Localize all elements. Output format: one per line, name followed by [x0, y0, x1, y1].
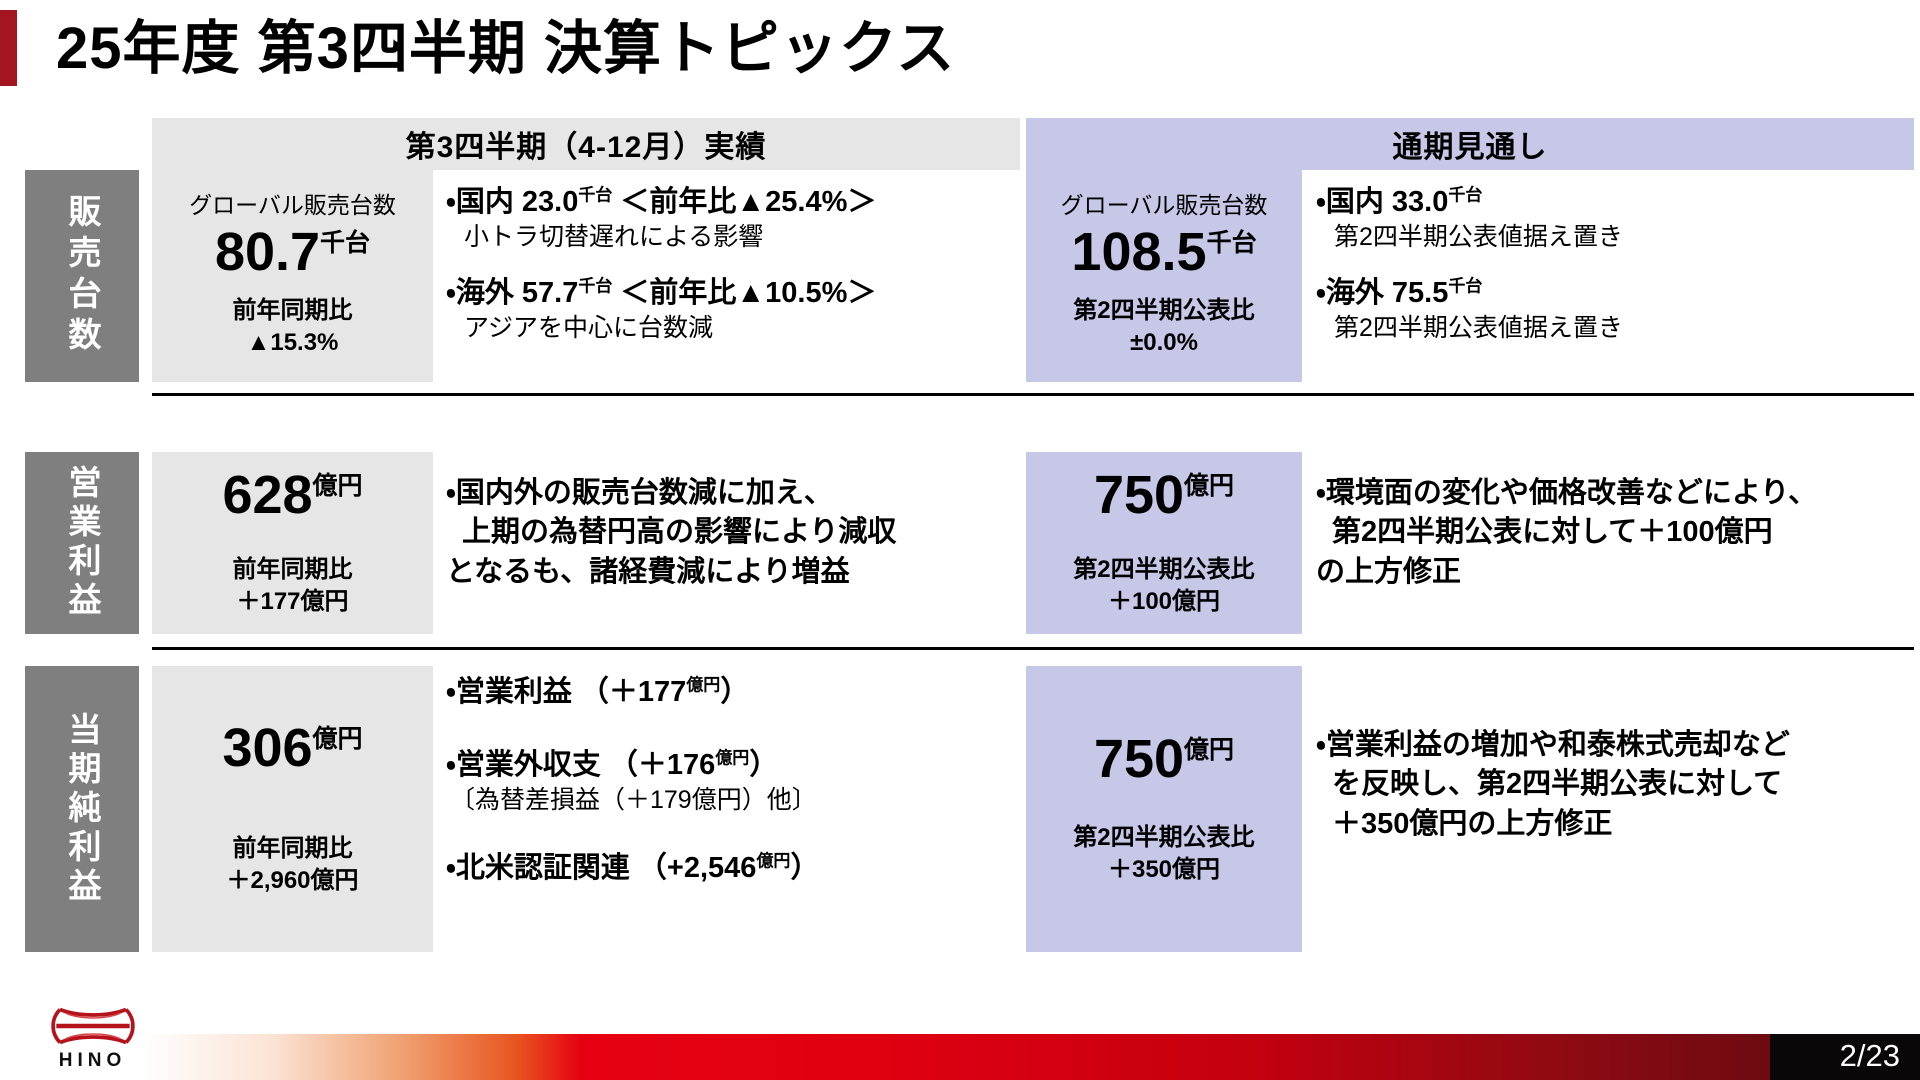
- list-item: ・営業外収支 （＋176億円） 〔為替差損益（＋179億円）他〕: [446, 747, 1016, 816]
- bullet-note: 第2四半期公表値据え置き: [1334, 312, 1916, 344]
- table-row: 販売台数 グローバル販売台数 80.7千台 前年同期比 ▲15.3% ・国内 2…: [0, 170, 1920, 438]
- paragraph-forecast-net: ・営業利益の増加や和泰株式売却など を反映し、第2四半期公表に対して ＋350億…: [1316, 726, 1916, 844]
- bullets-actual-net: ・営業利益 （＋177億円） ・営業外収支 （＋176億円） 〔為替差損益（＋1…: [446, 674, 1016, 887]
- value-main: 750億円: [1094, 467, 1234, 524]
- bullets-actual-sales: ・国内 23.0千台 ＜前年比▲25.4%＞ 小トラ切替遅れによる影響 ・海外 …: [446, 184, 1016, 344]
- column-header-forecast: 通期見通し: [1026, 118, 1914, 170]
- paragraph-line: ・環境面の変化や価格改善などにより、: [1316, 474, 1916, 513]
- bullet-main-text: ・営業外収支 （＋176: [446, 749, 715, 781]
- page-number-band: 2/23: [1770, 1034, 1920, 1080]
- bullet-main-tail: ）: [749, 749, 778, 781]
- page-title: 25年度 第3四半期 決算トピックス: [56, 14, 955, 84]
- paragraph-line: ・国内外の販売台数減に加え、: [446, 474, 1016, 513]
- bullet-main-text: ・海外 57.7: [446, 277, 578, 309]
- list-item: ・国内 33.0千台 第2四半期公表値据え置き: [1316, 184, 1916, 253]
- paragraph-line: 上期の為替円高の影響により減収: [446, 513, 1016, 552]
- row-divider: [152, 647, 1914, 650]
- value-unit: 億円: [313, 472, 363, 500]
- bullet-main-sup: 千台: [578, 185, 612, 204]
- value-number: 750: [1094, 465, 1184, 525]
- title-accent-bar: [0, 10, 17, 86]
- paragraph-line: 第2四半期公表に対して＋100億円: [1316, 513, 1916, 552]
- bullet-main-tail: ＜前年比▲10.5%＞: [612, 277, 876, 309]
- value-compare-label: 前年同期比: [233, 554, 353, 586]
- paragraph-line: となるも、諸経費減により増益: [446, 553, 1016, 592]
- value-cell-forecast-net: 750億円 第2四半期公表比 ＋350億円: [1026, 666, 1302, 952]
- value-unit: 千台: [1207, 229, 1257, 257]
- value-compare-label: 前年同期比: [233, 833, 353, 865]
- value-compare-value: ±0.0%: [1130, 327, 1198, 359]
- list-item: ・海外 57.7千台 ＜前年比▲10.5%＞ アジアを中心に台数減: [446, 275, 1016, 344]
- value-number: 80.7: [215, 222, 320, 282]
- bullets-forecast-sales: ・国内 33.0千台 第2四半期公表値据え置き ・海外 75.5千台 第2四半期…: [1316, 184, 1916, 344]
- list-item: ・北米認証関連 （+2,546億円）: [446, 850, 1016, 887]
- list-item: ・営業利益 （＋177億円）: [446, 674, 1016, 711]
- bullet-main-text: ・北米認証関連 （+2,546: [446, 852, 756, 884]
- value-cell-actual-operating: 628億円 前年同期比 ＋177億円: [152, 452, 433, 634]
- footer: HINO 2/23: [0, 1002, 1920, 1080]
- bullet-main-tail: ＜前年比▲25.4%＞: [612, 186, 876, 218]
- value-number: 750: [1094, 729, 1184, 789]
- hino-logo-text: HINO: [59, 1050, 127, 1072]
- value-number: 628: [222, 465, 312, 525]
- hino-emblem-icon: [47, 1004, 139, 1048]
- value-cell-actual-sales: グローバル販売台数 80.7千台 前年同期比 ▲15.3%: [152, 170, 433, 382]
- footer-gradient-bar: [142, 1034, 1770, 1080]
- paragraph-forecast-operating: ・環境面の変化や価格改善などにより、 第2四半期公表に対して＋100億円 の上方…: [1316, 474, 1916, 592]
- column-header-actual: 第3四半期（4-12月）実績: [152, 118, 1020, 170]
- page-number: 2/23: [1840, 1036, 1900, 1076]
- paragraph-text: ・環境面の変化や価格改善などにより、 第2四半期公表に対して＋100億円 の上方…: [1316, 474, 1916, 592]
- value-caption: グローバル販売台数: [1061, 192, 1268, 220]
- bullet-main: ・営業外収支 （＋176億円）: [446, 747, 1016, 784]
- bullet-main-text: ・営業利益 （＋177: [446, 676, 686, 708]
- bullet-note: 第2四半期公表値据え置き: [1334, 221, 1916, 253]
- bullet-main-sup: 千台: [1448, 276, 1482, 295]
- paragraph-line: ・営業利益の増加や和泰株式売却など: [1316, 726, 1916, 765]
- bullet-note: アジアを中心に台数減: [464, 312, 1016, 344]
- bullet-main-tail: ）: [790, 852, 819, 884]
- bullet-main: ・海外 57.7千台 ＜前年比▲10.5%＞: [446, 275, 1016, 312]
- value-main: 628億円: [222, 467, 362, 524]
- value-compare-value: ＋100億円: [1108, 586, 1220, 618]
- value-unit: 千台: [320, 229, 370, 257]
- list-item: ・海外 75.5千台 第2四半期公表値据え置き: [1316, 275, 1916, 344]
- bullet-main-text: ・国内 33.0: [1316, 186, 1448, 218]
- value-compare-label: 第2四半期公表比: [1073, 554, 1254, 586]
- row-divider: [152, 393, 1914, 396]
- paragraph-line: の上方修正: [1316, 553, 1916, 592]
- value-compare-label: 第2四半期公表比: [1073, 295, 1254, 327]
- bullet-note: 〔為替差損益（＋179億円）他〕: [450, 784, 1016, 816]
- value-compare-value: ▲15.3%: [247, 327, 339, 359]
- bullet-main-sup: 千台: [578, 276, 612, 295]
- rows-container: 販売台数 グローバル販売台数 80.7千台 前年同期比 ▲15.3% ・国内 2…: [0, 170, 1920, 968]
- value-cell-forecast-sales: グローバル販売台数 108.5千台 第2四半期公表比 ±0.0%: [1026, 170, 1302, 382]
- value-compare-label: 第2四半期公表比: [1073, 822, 1254, 854]
- paragraph-text: ・国内外の販売台数減に加え、 上期の為替円高の影響により減収 となるも、諸経費減…: [446, 474, 1016, 592]
- value-unit: 億円: [1184, 736, 1234, 764]
- hino-logo: HINO: [30, 1002, 155, 1072]
- bullet-main-sup: 千台: [1448, 185, 1482, 204]
- bullet-main: ・国内 23.0千台 ＜前年比▲25.4%＞: [446, 184, 1016, 221]
- value-unit: 億円: [313, 725, 363, 753]
- value-main: 750億円: [1094, 731, 1234, 788]
- table-row: 営業利益 628億円 前年同期比 ＋177億円 ・国内外の販売台数減に加え、 上…: [0, 438, 1920, 652]
- bullet-main-tail: ）: [720, 676, 749, 708]
- bullet-main-sup: 億円: [756, 852, 790, 871]
- category-tab-operating-income: 営業利益: [25, 452, 139, 634]
- category-tab-sales-volume: 販売台数: [25, 170, 139, 382]
- bullet-main-text: ・国内 23.0: [446, 186, 578, 218]
- value-compare-value: ＋2,960億円: [226, 865, 358, 897]
- bullet-main: ・北米認証関連 （+2,546億円）: [446, 850, 1016, 887]
- bullet-main: ・営業利益 （＋177億円）: [446, 674, 1016, 711]
- value-main: 108.5千台: [1071, 224, 1256, 281]
- value-number: 108.5: [1071, 222, 1206, 282]
- value-number: 306: [222, 718, 312, 778]
- category-tab-net-income: 当期純利益: [25, 666, 139, 952]
- table-row: 当期純利益 306億円 前年同期比 ＋2,960億円 ・営業利益 （＋177億円…: [0, 652, 1920, 968]
- value-compare-value: ＋177億円: [236, 586, 348, 618]
- slide-root: 25年度 第3四半期 決算トピックス 第3四半期（4-12月）実績 通期見通し …: [0, 0, 1920, 1080]
- value-main: 80.7千台: [215, 224, 370, 281]
- bullet-main-sup: 億円: [715, 748, 749, 767]
- value-compare-label: 前年同期比: [233, 295, 353, 327]
- value-unit: 億円: [1184, 472, 1234, 500]
- bullet-note: 小トラ切替遅れによる影響: [464, 221, 1016, 253]
- bullet-main-text: ・海外 75.5: [1316, 277, 1448, 309]
- bullet-main: ・海外 75.5千台: [1316, 275, 1916, 312]
- paragraph-line: ＋350億円の上方修正: [1316, 805, 1916, 844]
- value-cell-forecast-operating: 750億円 第2四半期公表比 ＋100億円: [1026, 452, 1302, 634]
- list-item: ・国内 23.0千台 ＜前年比▲25.4%＞ 小トラ切替遅れによる影響: [446, 184, 1016, 253]
- paragraph-text: ・営業利益の増加や和泰株式売却など を反映し、第2四半期公表に対して ＋350億…: [1316, 726, 1916, 844]
- value-main: 306億円: [222, 720, 362, 777]
- value-caption: グローバル販売台数: [189, 192, 396, 220]
- bullet-main: ・国内 33.0千台: [1316, 184, 1916, 221]
- paragraph-actual-operating: ・国内外の販売台数減に加え、 上期の為替円高の影響により減収 となるも、諸経費減…: [446, 474, 1016, 592]
- value-cell-actual-net: 306億円 前年同期比 ＋2,960億円: [152, 666, 433, 952]
- bullet-main-sup: 億円: [686, 675, 720, 694]
- paragraph-line: を反映し、第2四半期公表に対して: [1316, 765, 1916, 804]
- value-compare-value: ＋350億円: [1108, 854, 1220, 886]
